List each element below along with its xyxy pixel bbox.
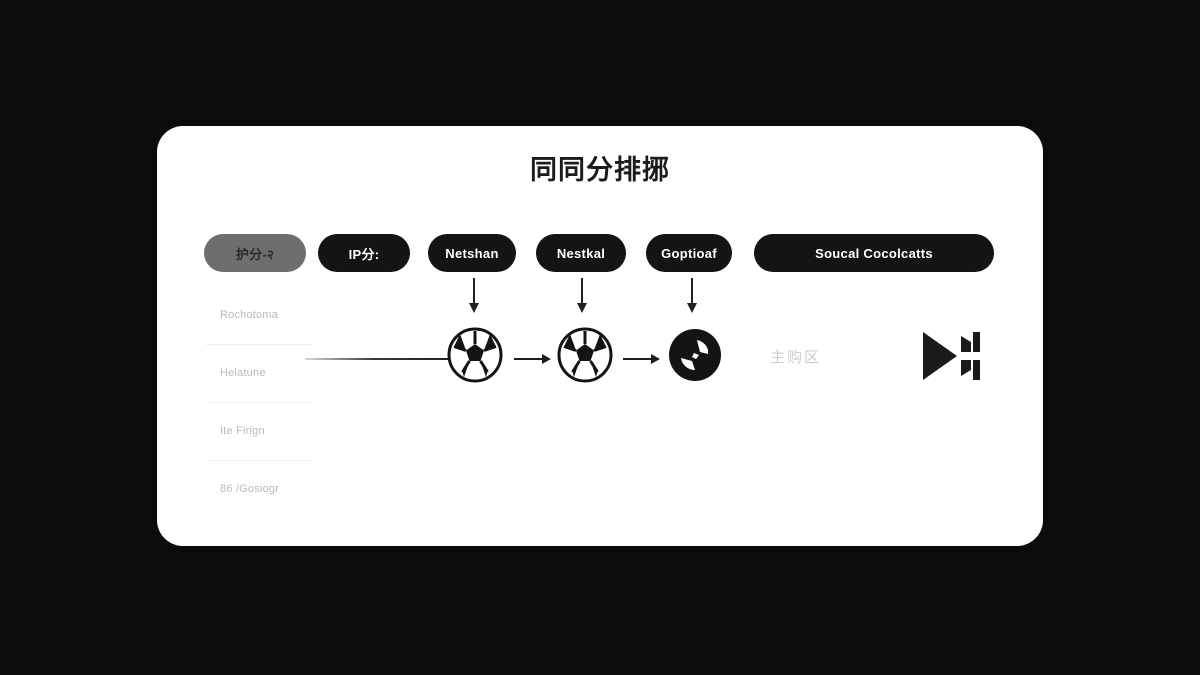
sidebar-item-0-label: Rochotoma: [220, 309, 278, 321]
content-card: 同同分排捓 护分-२ IP分: Netshan Nestkal Goptioaf…: [157, 126, 1043, 546]
soccer-ball-icon: [447, 327, 503, 383]
filter-pill-2[interactable]: Netshan: [428, 234, 516, 272]
sidebar-item-1-label: Helatune: [220, 367, 266, 379]
arrow-right-icon-0: [514, 358, 542, 360]
sidebar-item-2-label: Ite Firign: [220, 425, 265, 437]
filter-pill-1[interactable]: IP分:: [318, 234, 410, 272]
arrow-right-icon-1: [623, 358, 651, 360]
filter-pill-4[interactable]: Goptioaf: [646, 234, 732, 272]
filter-pill-0-label: 护分-२: [236, 244, 274, 263]
flow-node-1[interactable]: [557, 327, 613, 388]
filter-pill-5[interactable]: Soucal Cocolcatts: [754, 234, 994, 272]
flow-node-0[interactable]: [447, 327, 503, 388]
arrow-down-icon-1: [581, 278, 583, 304]
arrow-down-icon-2: [691, 278, 693, 304]
sidebar-item-3[interactable]: 86 /Gosiogr: [204, 460, 314, 518]
sidebar-item-3-label: 86 /Gosiogr: [220, 483, 279, 495]
sidebar-list: Rochotoma Helatune Ite Firign 86 /Gosiog…: [204, 286, 314, 518]
soccer-ball-icon: [557, 327, 613, 383]
filter-pill-5-label: Soucal Cocolcatts: [815, 246, 933, 261]
sidebar-item-0[interactable]: Rochotoma: [204, 286, 314, 344]
filter-pill-2-label: Netshan: [445, 246, 498, 261]
sidebar-item-1[interactable]: Helatune: [204, 344, 314, 402]
skip-forward-icon: [919, 326, 983, 386]
center-region-label: 主购区: [770, 346, 821, 367]
filter-pill-1-label: IP分:: [349, 244, 380, 263]
arrow-down-icon-0: [473, 278, 475, 304]
page-title: 同同分排捓: [157, 157, 1043, 184]
filter-pill-0[interactable]: 护分-२: [204, 234, 306, 272]
screen-root: 同同分排捓 护分-२ IP分: Netshan Nestkal Goptioaf…: [0, 0, 1200, 675]
media-icon-wrap[interactable]: [919, 326, 983, 391]
filter-pill-4-label: Goptioaf: [661, 246, 717, 261]
flow-node-2[interactable]: [667, 327, 723, 388]
sidebar-item-2[interactable]: Ite Firign: [204, 402, 314, 460]
arrow-right-long-icon: [305, 358, 457, 360]
globe-solid-icon: [667, 327, 723, 383]
filter-pill-3[interactable]: Nestkal: [536, 234, 626, 272]
filter-pill-3-label: Nestkal: [557, 246, 605, 261]
